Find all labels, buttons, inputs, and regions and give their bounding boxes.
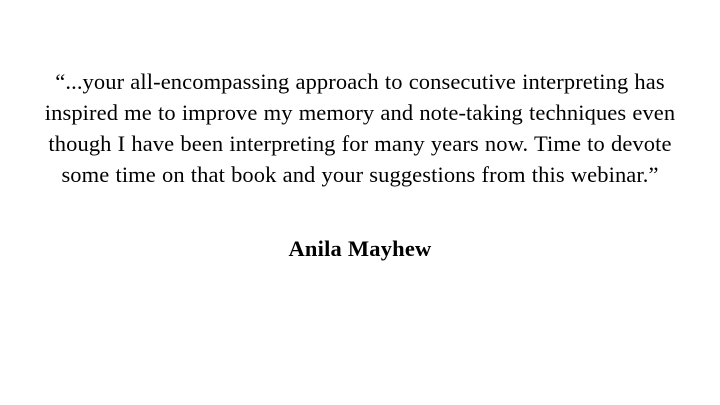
testimonial-author-name: Anila Mayhew: [36, 233, 684, 264]
testimonial-slide: “...your all-encompassing approach to co…: [0, 0, 720, 405]
testimonial-quote-text: “...your all-encompassing approach to co…: [36, 66, 684, 190]
testimonial-block: “...your all-encompassing approach to co…: [36, 66, 684, 264]
